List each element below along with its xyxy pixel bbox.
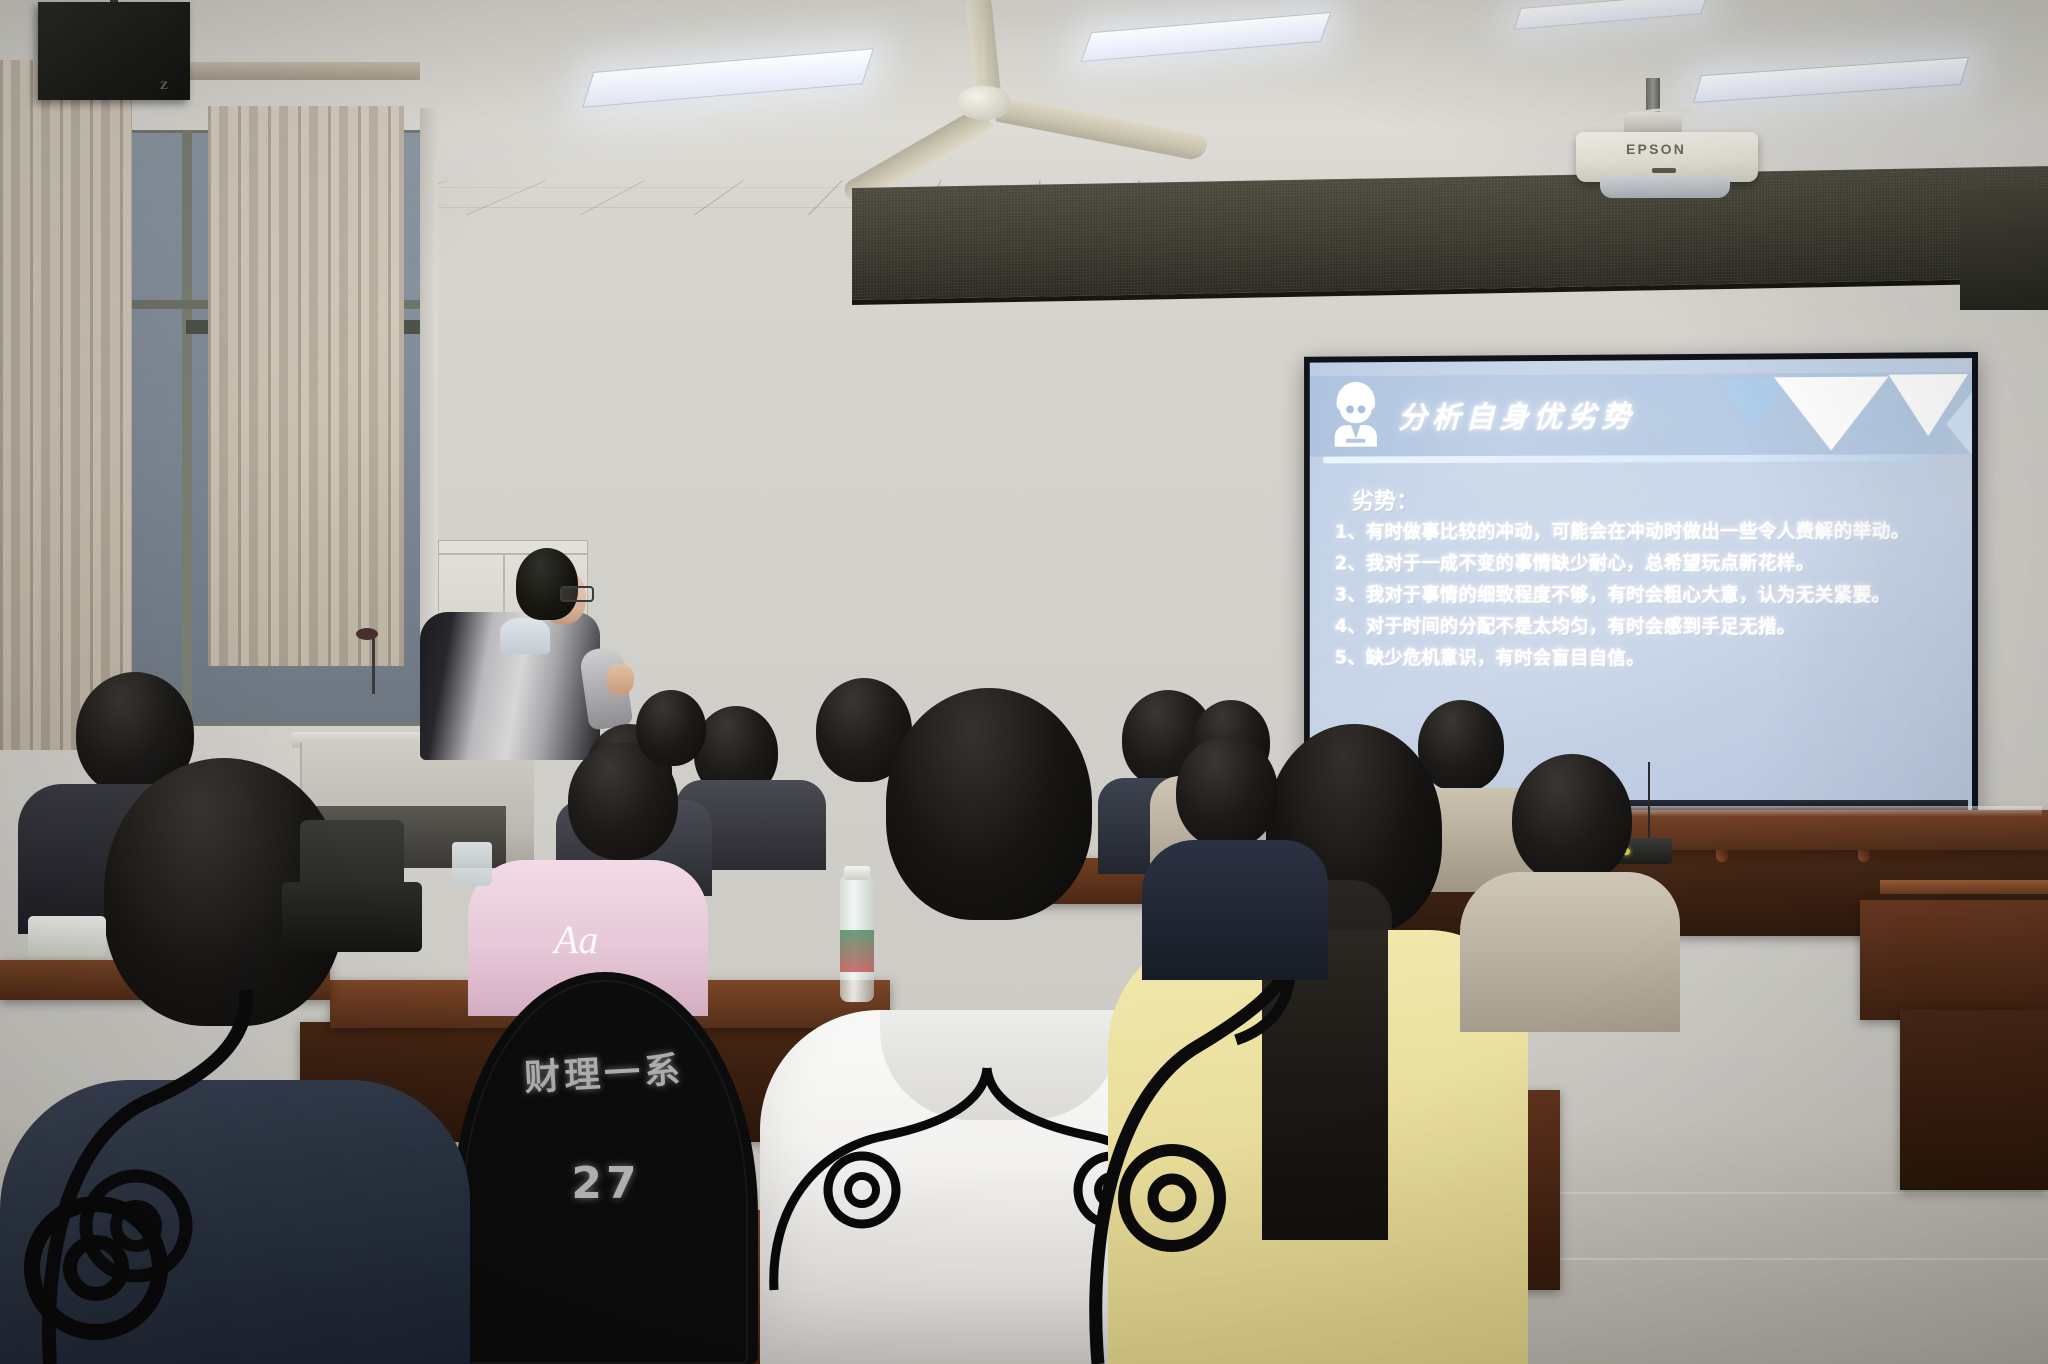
triangle-decoration-icon [1946, 392, 1972, 456]
wall-dark-band [852, 166, 2048, 305]
microphone-head [356, 628, 378, 640]
curtain-left [0, 60, 132, 750]
jacket-logo-text: Aa [554, 916, 598, 963]
slide-header-underline [1323, 454, 1926, 463]
equipment-cart-shelf [282, 882, 422, 952]
projector-brand-label: EPSON [1626, 141, 1686, 157]
wall-speaker: Z [38, 2, 190, 100]
presenter-head [516, 548, 578, 620]
slide-list-item: 1、有时做事比较的冲动，可能会在冲动时做出一些令人费解的举动。 [1335, 522, 1972, 542]
window-mullion [182, 130, 192, 720]
presentation-slide: 分析自身优劣势 劣势： 1、有时做事比较的冲动，可能会在冲动时做出一些令人费解的… [1310, 358, 1972, 810]
slide-list-item: 2、我对于一成不变的事情缺少耐心，总希望玩点新花样。 [1335, 554, 1972, 573]
side-desk [1900, 1010, 2048, 1190]
projector: EPSON [1576, 132, 1758, 182]
slide-list-item: 5、缺少危机意识，有时会盲目自信。 [1335, 649, 1972, 669]
chair-department-label: 财理一系 [492, 1030, 715, 1111]
presenter-glasses [560, 586, 594, 602]
navy-jacket-torso [0, 1080, 470, 1364]
avatar-tie [1346, 439, 1365, 443]
speaker-brand-logo: Z [160, 78, 168, 93]
presenter-shirt [500, 618, 550, 654]
slide-bullet-list: 1、有时做事比较的冲动，可能会在冲动时做出一些令人费解的举动。 2、我对于一成不… [1310, 522, 1972, 669]
side-desk-top [1880, 880, 2048, 894]
slide-list-item: 3、我对于事情的细致程度不够，有时会粗心大意，认为无关紧要。 [1335, 586, 1972, 605]
side-desk [1860, 900, 2048, 1020]
avatar-face [1339, 397, 1372, 424]
slide-header-band: 分析自身优劣势 [1310, 372, 1972, 457]
slide-subheading: 劣势： [1352, 480, 1972, 515]
desk-cup [452, 842, 492, 886]
foreground-student-head [886, 688, 1092, 920]
projector-lens [1600, 176, 1730, 198]
audience-head [636, 690, 706, 766]
ceiling-fan-hub [958, 86, 1010, 120]
curtain-right [208, 106, 404, 666]
microphone-stand [372, 636, 375, 694]
dark-jacket-torso [1142, 840, 1328, 980]
water-bottle-cap [844, 866, 870, 880]
audience-head [1176, 736, 1278, 848]
wall-column [420, 108, 438, 668]
slide-title: 分析自身优劣势 [1398, 392, 1635, 437]
avatar-eye [1346, 405, 1354, 413]
chair-number-label: 27 [556, 1158, 656, 1212]
grey-jacket-torso [1460, 872, 1680, 1032]
presenter-hand [606, 664, 634, 696]
avatar-eye [1358, 405, 1366, 413]
wall-dark-band-right [1960, 190, 2048, 310]
microphone-antenna [1648, 762, 1650, 840]
water-bottle-label [840, 930, 874, 972]
classroom-photo-scene: Z EPSON [0, 0, 2048, 1364]
triangle-decoration-icon [1774, 377, 1889, 451]
desk-paper [28, 916, 106, 956]
projector-vent-slot [1652, 168, 1676, 173]
audience-head [1512, 754, 1632, 884]
slide-body: 劣势： 1、有时做事比较的冲动，可能会在冲动时做出一些令人费解的举动。 2、我对… [1310, 470, 1972, 682]
person-avatar-icon [1333, 382, 1379, 445]
slide-list-item: 4、对于时间的分配不是太均匀，有时会感到手足无措。 [1335, 617, 1972, 637]
